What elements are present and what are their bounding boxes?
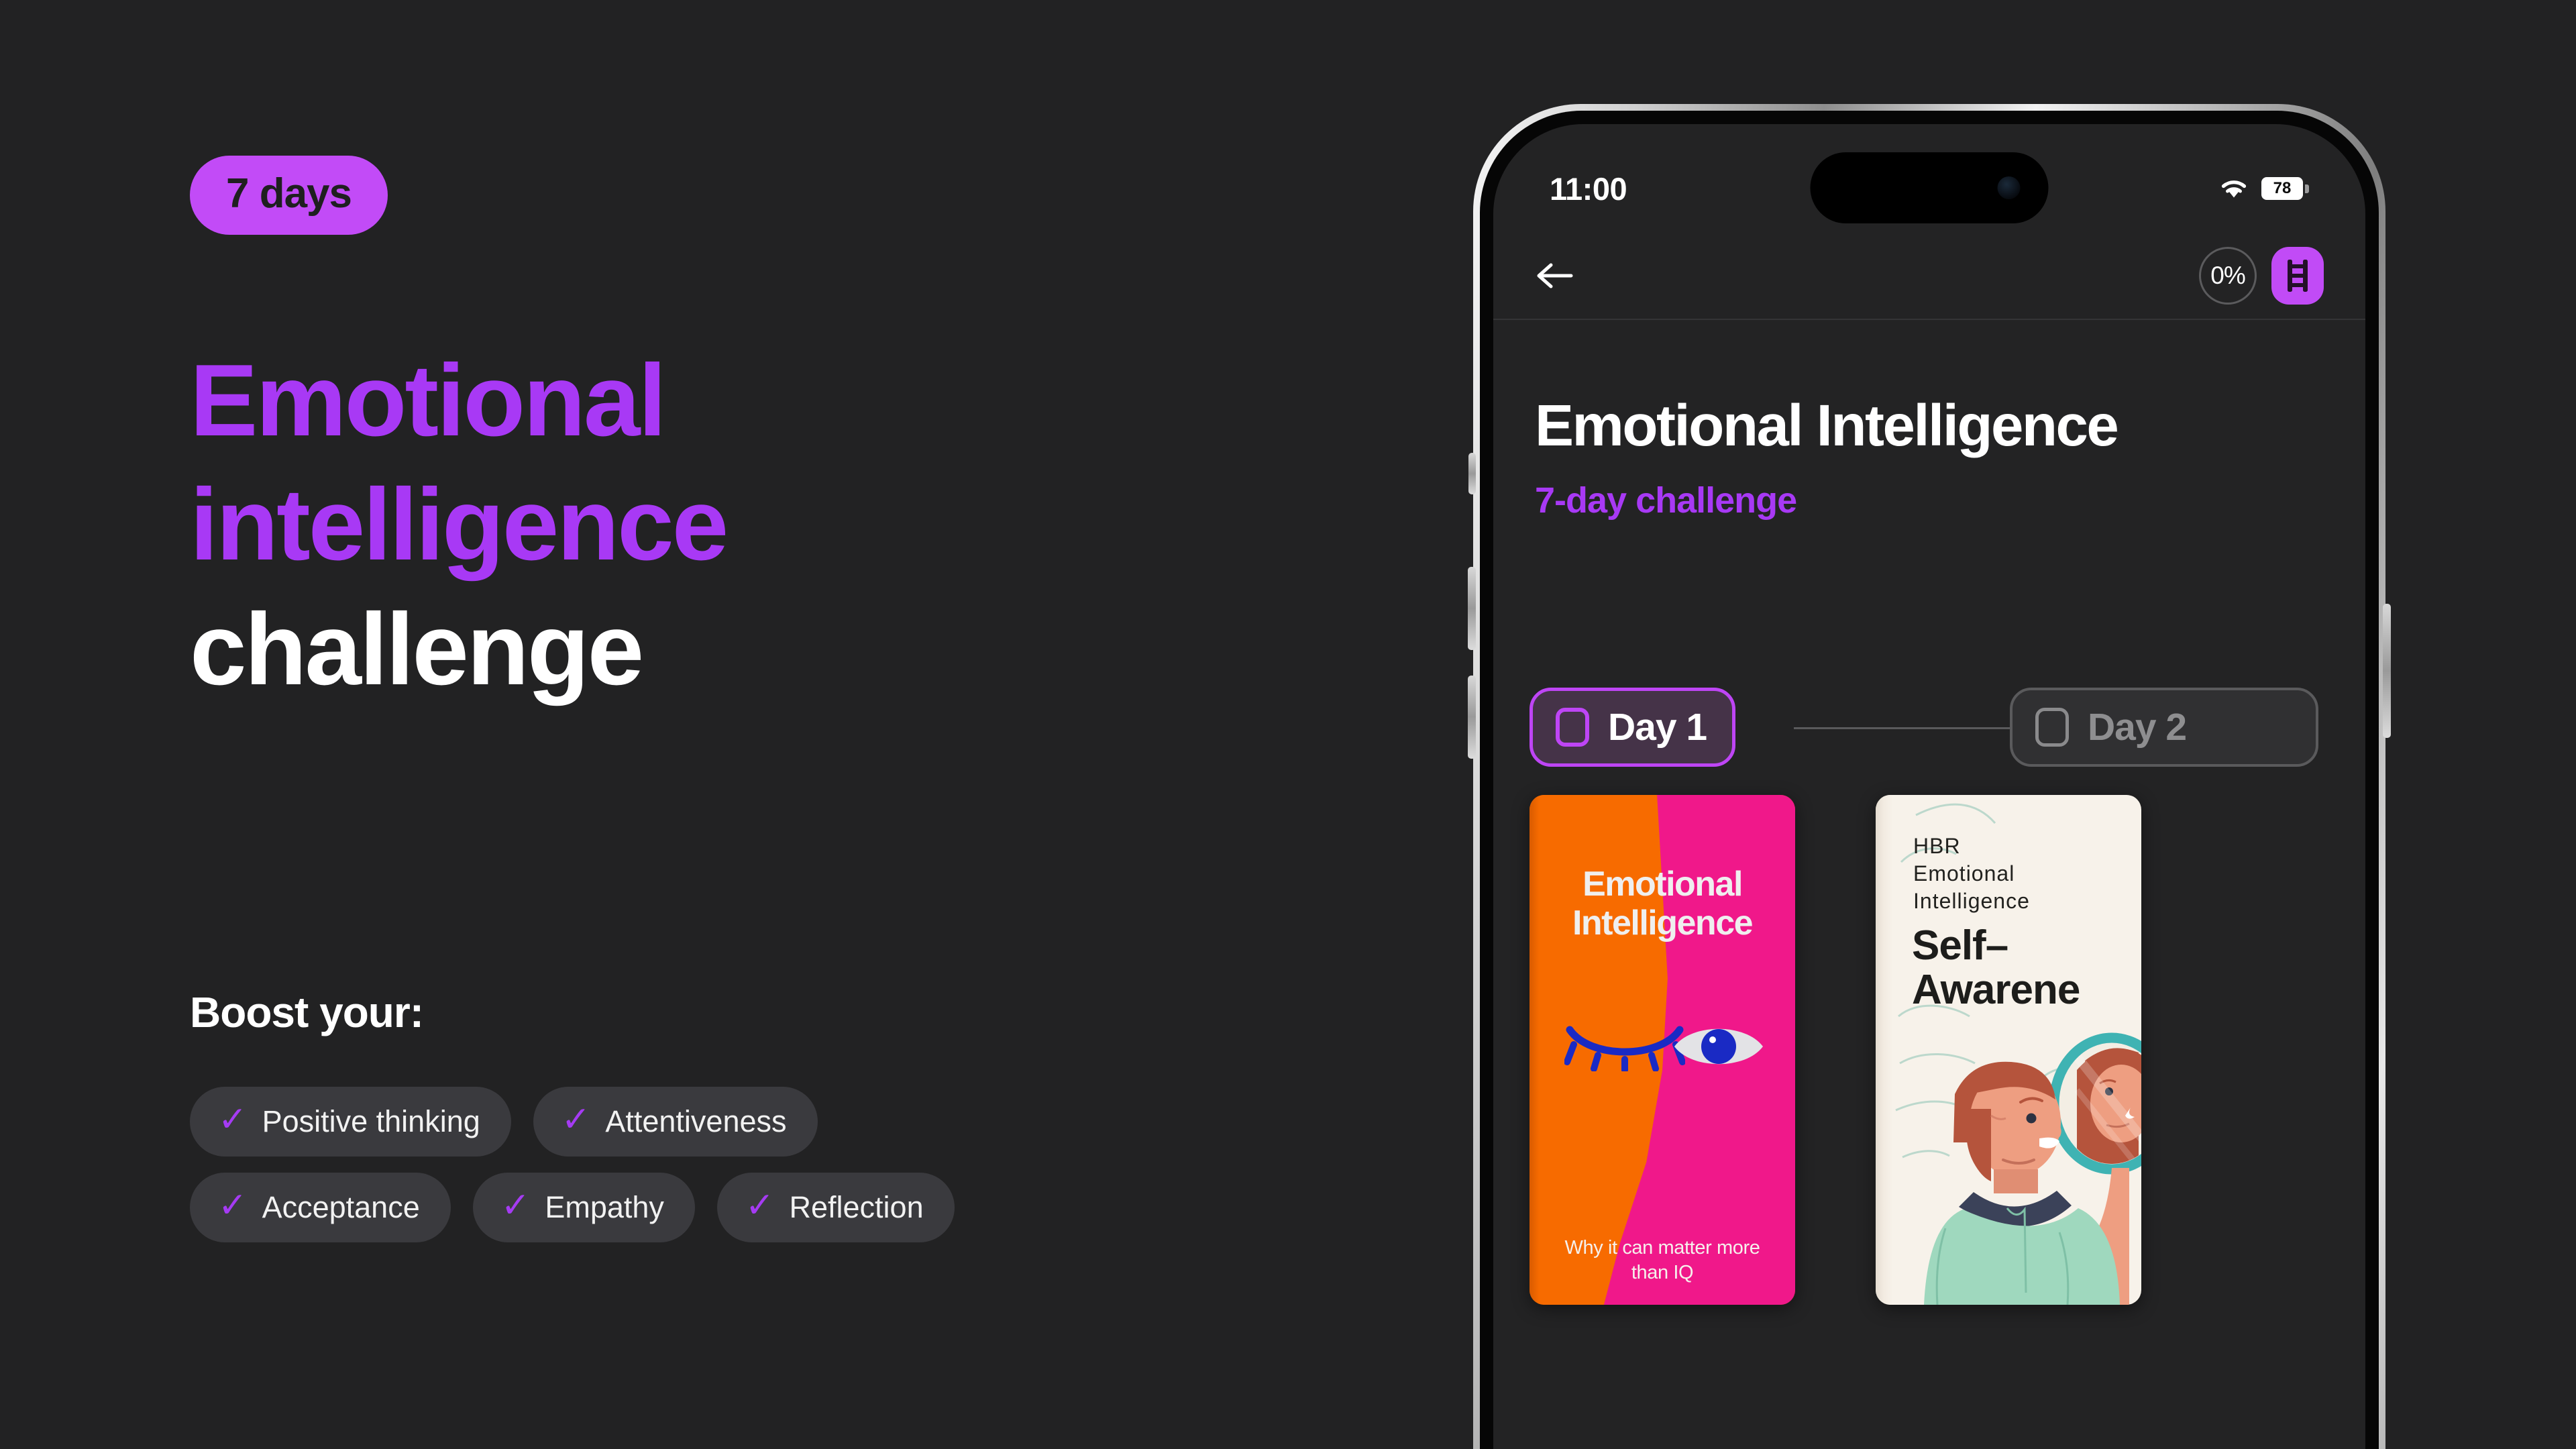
phone-screen: 11:00 78 bbox=[1493, 124, 2365, 1449]
mute-switch-button[interactable] bbox=[1468, 453, 1476, 494]
book-spine bbox=[1529, 795, 1547, 1305]
check-icon: ✓ bbox=[218, 1102, 248, 1137]
battery-indicator: 78 bbox=[2261, 177, 2309, 200]
day-tab-1[interactable]: Day 1 bbox=[1529, 688, 1735, 767]
headline-line-1: Emotional bbox=[190, 339, 1196, 463]
book-title: Self– Awarene bbox=[1912, 924, 2080, 1012]
benefit-tag-label: Reflection bbox=[789, 1192, 923, 1222]
headline-line-3: challenge bbox=[190, 588, 1196, 712]
battery-tip bbox=[2305, 184, 2309, 193]
book-title-line-2: Awarene bbox=[1912, 967, 2080, 1013]
benefit-tag: ✓ Positive thinking bbox=[190, 1087, 511, 1157]
check-icon: ✓ bbox=[561, 1102, 591, 1137]
challenge-title: Emotional Intelligence bbox=[1535, 392, 2117, 460]
benefit-tag-label: Attentiveness bbox=[605, 1106, 786, 1136]
boost-your-heading: Boost your: bbox=[190, 987, 423, 1037]
page-title: Emotional intelligence challenge bbox=[190, 339, 1196, 712]
volume-down-button[interactable] bbox=[1468, 676, 1476, 759]
day-checkbox-icon[interactable] bbox=[1556, 708, 1589, 747]
day-connector-line bbox=[1794, 727, 2035, 729]
book-eyebrow: HBR Emotional Intelligence bbox=[1913, 833, 2030, 915]
phone-mockup: 11:00 78 bbox=[1473, 104, 2412, 1449]
book-subtitle: Why it can matter more than IQ bbox=[1550, 1236, 1775, 1286]
open-eye-icon bbox=[1673, 1022, 1764, 1071]
book-eyebrow-line-1: HBR bbox=[1913, 834, 1961, 858]
benefit-tag-label: Positive thinking bbox=[262, 1106, 480, 1136]
benefit-tag: ✓ Acceptance bbox=[190, 1173, 451, 1242]
headline-line-2: intelligence bbox=[190, 463, 1196, 587]
self-awareness-illustration bbox=[1876, 1016, 2141, 1305]
closed-eye-icon bbox=[1564, 1020, 1685, 1071]
challenge-subtitle: 7-day challenge bbox=[1535, 480, 1796, 521]
day-tab-label: Day 2 bbox=[2088, 705, 2186, 749]
volume-up-button[interactable] bbox=[1468, 567, 1476, 650]
dynamic-island bbox=[1811, 152, 2049, 223]
battery-level-label: 78 bbox=[2261, 177, 2303, 200]
benefit-tag-row: ✓ Positive thinking ✓ Attentiveness bbox=[190, 1087, 1196, 1157]
status-indicators: 78 bbox=[2218, 157, 2309, 200]
front-camera-icon bbox=[1998, 176, 2021, 199]
phone-frame: 11:00 78 bbox=[1473, 104, 2385, 1449]
days-badge: 7 days bbox=[190, 156, 388, 235]
benefit-tag-label: Acceptance bbox=[262, 1192, 420, 1222]
check-icon: ✓ bbox=[501, 1188, 531, 1223]
benefit-tag: ✓ Reflection bbox=[717, 1173, 955, 1242]
check-icon: ✓ bbox=[218, 1188, 248, 1223]
phone-bezel: 11:00 78 bbox=[1480, 111, 2379, 1449]
day-tab-label: Day 1 bbox=[1608, 705, 1707, 749]
book-card[interactable]: HBR Emotional Intelligence Self– Awarene bbox=[1876, 795, 2141, 1305]
benefit-tag-list: ✓ Positive thinking ✓ Attentiveness ✓ Ac… bbox=[190, 1087, 1196, 1258]
left-marketing-panel: 7 days Emotional intelligence challenge … bbox=[0, 0, 1476, 1449]
power-button[interactable] bbox=[2383, 604, 2391, 738]
app-nav-bar: 0% bbox=[1493, 233, 2365, 320]
progress-badge[interactable]: 0% bbox=[2199, 247, 2257, 305]
day-tab-strip: Day 1 Day 2 bbox=[1493, 688, 2365, 768]
book-title: Emotional Intelligence bbox=[1529, 865, 1795, 943]
book-card-list: Emotional Intelligence bbox=[1529, 795, 2141, 1305]
benefit-tag: ✓ Attentiveness bbox=[533, 1087, 818, 1157]
ladder-icon bbox=[2284, 258, 2311, 293]
book-eyebrow-line-3: Intelligence bbox=[1913, 889, 2030, 913]
check-icon: ✓ bbox=[745, 1188, 775, 1223]
status-time: 11:00 bbox=[1550, 150, 1627, 207]
day-tab-2[interactable]: Day 2 bbox=[2010, 688, 2318, 767]
back-arrow-icon[interactable] bbox=[1535, 259, 1574, 292]
nav-actions: 0% bbox=[2199, 247, 2324, 305]
day-checkbox-icon[interactable] bbox=[2035, 708, 2069, 747]
ladder-button[interactable] bbox=[2271, 247, 2324, 305]
wifi-icon bbox=[2218, 177, 2249, 200]
book-spine bbox=[1876, 795, 1893, 1305]
book-title-line-1: Self– bbox=[1912, 922, 2008, 969]
book-card[interactable]: Emotional Intelligence bbox=[1529, 795, 1795, 1305]
book-eyebrow-line-2: Emotional bbox=[1913, 861, 2015, 885]
benefit-tag: ✓ Empathy bbox=[473, 1173, 695, 1242]
benefit-tag-row: ✓ Acceptance ✓ Empathy ✓ Reflection bbox=[190, 1173, 1196, 1242]
benefit-tag-label: Empathy bbox=[545, 1192, 664, 1222]
